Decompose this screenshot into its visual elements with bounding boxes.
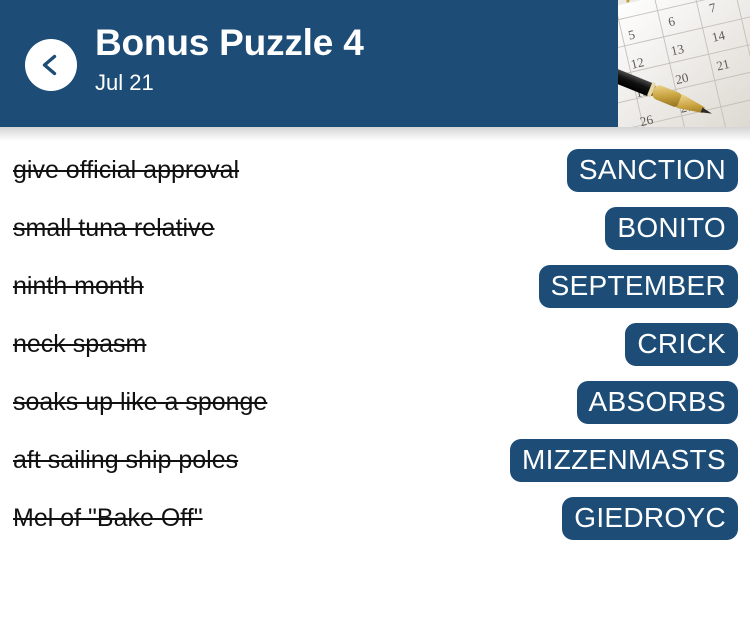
table-row: soaks up like a sponge ABSORBS [0,373,750,431]
table-row: ninth month SEPTEMBER [0,257,750,315]
table-row: neck spasm CRICK [0,315,750,373]
clue-text: Mel of "Bake Off" [13,503,203,533]
clue-text: aft sailing ship poles [13,445,238,475]
calendar-photo: 5 6 7 12 13 14 19 20 21 26 27 [618,0,750,127]
chevron-left-icon [38,52,64,78]
page-subtitle-date: Jul 21 [95,69,605,97]
answer-pill[interactable]: GIEDROYC [562,497,738,540]
table-row: aft sailing ship poles MIZZENMASTS [0,431,750,489]
clue-text: soaks up like a sponge [13,387,267,417]
table-row: give official approval SANCTION [0,141,750,199]
answer-pill[interactable]: BONITO [605,207,738,250]
table-row: Mel of "Bake Off" GIEDROYC [0,489,750,547]
puzzle-row-list: give official approval SANCTION small tu… [0,127,750,547]
answer-pill[interactable]: SEPTEMBER [539,265,738,308]
clue-text: neck spasm [13,329,146,359]
page-title: Bonus Puzzle 4 [95,20,605,66]
app-header: 5 6 7 12 13 14 19 20 21 26 27 [0,0,750,127]
answer-pill[interactable]: MIZZENMASTS [510,439,738,482]
header-text-block: Bonus Puzzle 4 Jul 21 [95,20,605,97]
clue-text: ninth month [13,271,144,301]
answer-pill[interactable]: ABSORBS [577,381,738,424]
answer-pill[interactable]: CRICK [625,323,738,366]
back-button[interactable] [25,39,77,91]
table-row: small tuna relative BONITO [0,199,750,257]
answer-pill[interactable]: SANCTION [567,149,738,192]
puzzle-app: 5 6 7 12 13 14 19 20 21 26 27 [0,0,750,631]
calendar-photo-image: 5 6 7 12 13 14 19 20 21 26 27 [618,0,750,127]
clue-text: give official approval [13,155,239,185]
clue-text: small tuna relative [13,213,214,243]
